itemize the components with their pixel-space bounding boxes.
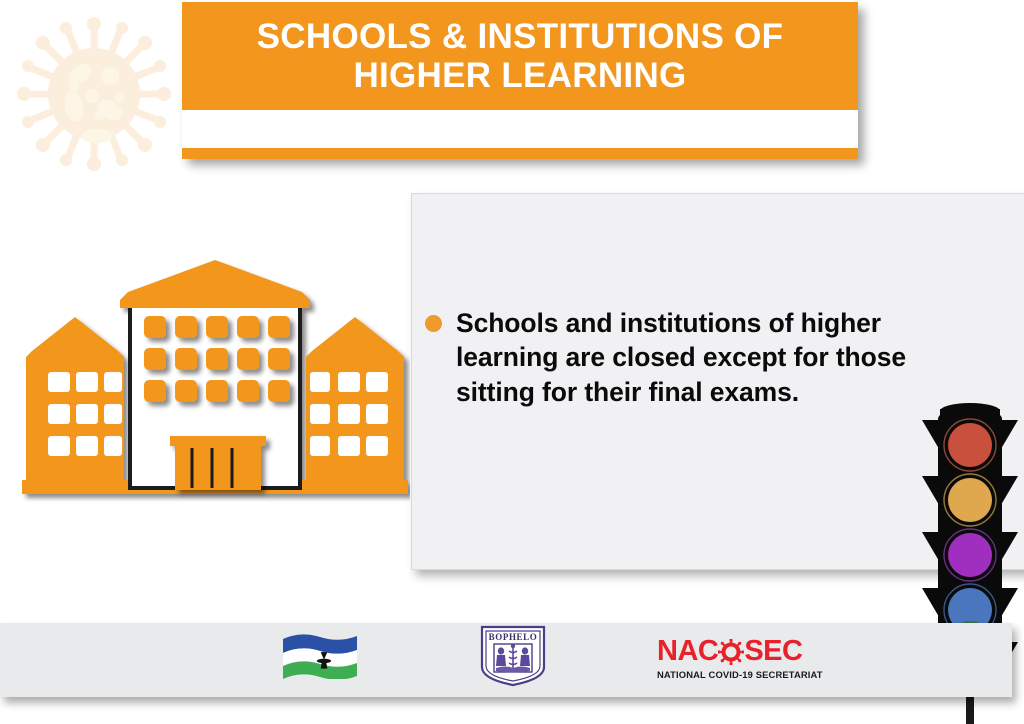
svg-text:BOPHELO: BOPHELO xyxy=(489,632,538,642)
bullet-point-icon xyxy=(425,315,442,332)
nacosec-subtitle: NATIONAL COVID-19 SECRETARIAT xyxy=(657,669,822,680)
lesotho-flag-logo xyxy=(283,631,357,679)
bophelo-ministry-of-health-logo: BOPHELO xyxy=(476,625,550,687)
bullet-text: Schools and institutions of higher learn… xyxy=(456,306,977,409)
nacosec-wordmark: NAC xyxy=(657,637,822,666)
header-banner: SCHOOLS & INSTITUTIONS OF HIGHER LEARNIN… xyxy=(182,2,858,158)
header-title-block: SCHOOLS & INSTITUTIONS OF HIGHER LEARNIN… xyxy=(182,2,858,110)
nacosec-virus-o-icon xyxy=(718,639,744,665)
lamp-orange xyxy=(948,478,992,522)
header-white-strip xyxy=(182,110,858,148)
nacosec-logo: NAC xyxy=(657,637,822,679)
header-accent-bar xyxy=(182,148,858,159)
nacosec-wordmark-part2: SEC xyxy=(744,637,802,666)
coronavirus-watermark-icon xyxy=(14,14,174,174)
lamp-red xyxy=(948,423,992,467)
school-building-icon xyxy=(20,252,410,502)
slide-root: SCHOOLS & INSTITUTIONS OF HIGHER LEARNIN… xyxy=(0,0,1024,724)
lamp-purple xyxy=(948,533,992,577)
page-title: SCHOOLS & INSTITUTIONS OF HIGHER LEARNIN… xyxy=(243,17,798,95)
nacosec-wordmark-part1: NAC xyxy=(657,637,718,666)
bullet-list-item: Schools and institutions of higher learn… xyxy=(425,306,977,409)
